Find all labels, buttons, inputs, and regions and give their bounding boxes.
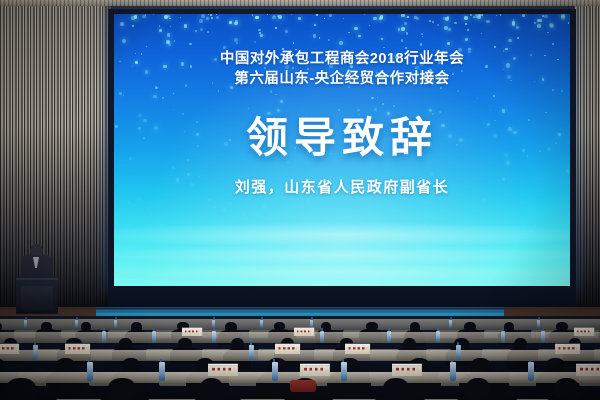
water-bottle <box>75 320 78 328</box>
audience-red-garment <box>290 380 316 392</box>
water-bottle <box>159 362 165 381</box>
water-bottle <box>387 331 391 343</box>
water-bottle <box>436 331 440 343</box>
water-bottle <box>341 362 347 381</box>
audience-name-card <box>182 328 202 336</box>
water-bottle <box>33 345 38 360</box>
audience-name-card <box>574 328 594 336</box>
water-bottle <box>537 320 540 328</box>
water-bottle <box>272 362 278 381</box>
water-bottle <box>212 320 215 328</box>
audience-head <box>122 358 140 373</box>
audience-name-card <box>345 344 370 354</box>
audience-head <box>464 322 476 331</box>
audience-name-card <box>392 364 422 376</box>
audience-head <box>466 378 490 399</box>
water-bottle <box>320 331 324 343</box>
audience-name-card <box>0 344 19 354</box>
audience-name-card <box>65 344 90 354</box>
water-bottle <box>528 362 534 381</box>
stage-curtain-right <box>574 6 600 306</box>
podium-front-panel <box>21 286 53 310</box>
audience-name-card <box>555 344 580 354</box>
water-bottle <box>24 320 27 328</box>
audience-head <box>225 322 237 332</box>
slide-header-line-1: 中国对外承包工程商会2018行业年会 <box>114 47 570 68</box>
audience-name-card <box>576 364 600 376</box>
water-bottle <box>260 320 263 328</box>
podium <box>16 278 58 314</box>
water-bottle <box>249 345 254 360</box>
slide-main-title: 领导致辞 <box>114 104 570 165</box>
audience-name-card <box>208 364 238 376</box>
audience-head <box>504 322 514 332</box>
slide-header-line-2: 第六届山东-央企经贸合作对接会 <box>114 67 570 88</box>
audience-head <box>6 378 36 400</box>
audience-head <box>199 378 224 400</box>
water-bottle <box>87 362 93 381</box>
audience-name-card <box>294 328 314 336</box>
audience-name-card <box>275 344 300 354</box>
water-bottle <box>114 320 117 328</box>
audience-head <box>108 378 136 400</box>
water-bottle <box>541 331 545 343</box>
slide-text-block: 中国对外承包工程商会2018行业年会 第六届山东-央企经贸合作对接会 领导致辞 … <box>114 14 570 286</box>
water-bottle <box>456 345 461 360</box>
audience-head <box>554 378 579 400</box>
audience-head <box>131 322 142 332</box>
water-bottle <box>152 331 156 343</box>
water-bottle <box>450 362 456 381</box>
audience-head <box>81 322 91 331</box>
audience-area <box>0 316 600 400</box>
led-screen: 中国对外承包工程商会2018行业年会 第六届山东-央企经贸合作对接会 领导致辞 … <box>114 14 570 286</box>
audience-head <box>178 338 192 349</box>
audience-name-card <box>300 364 330 376</box>
water-bottle <box>212 331 216 343</box>
water-bottle <box>449 320 452 328</box>
audience-head <box>546 358 565 373</box>
curtain-shade-right <box>574 6 600 306</box>
audience-head <box>41 322 52 331</box>
audience-head <box>556 322 568 331</box>
audience-head <box>274 322 285 330</box>
audience-head <box>119 338 132 349</box>
podium-with-speaker <box>14 240 60 312</box>
water-bottle <box>102 331 106 343</box>
conference-hall-photo: 中国对外承包工程商会2018行业年会 第六届山东-央企经贸合作对接会 领导致辞 … <box>0 0 600 400</box>
slide-subtitle: 刘强，山东省人民政府副省长 <box>114 176 570 197</box>
audience-head <box>383 378 409 400</box>
audience-head <box>410 322 420 332</box>
water-bottle <box>501 331 505 343</box>
audience-head <box>366 322 378 330</box>
